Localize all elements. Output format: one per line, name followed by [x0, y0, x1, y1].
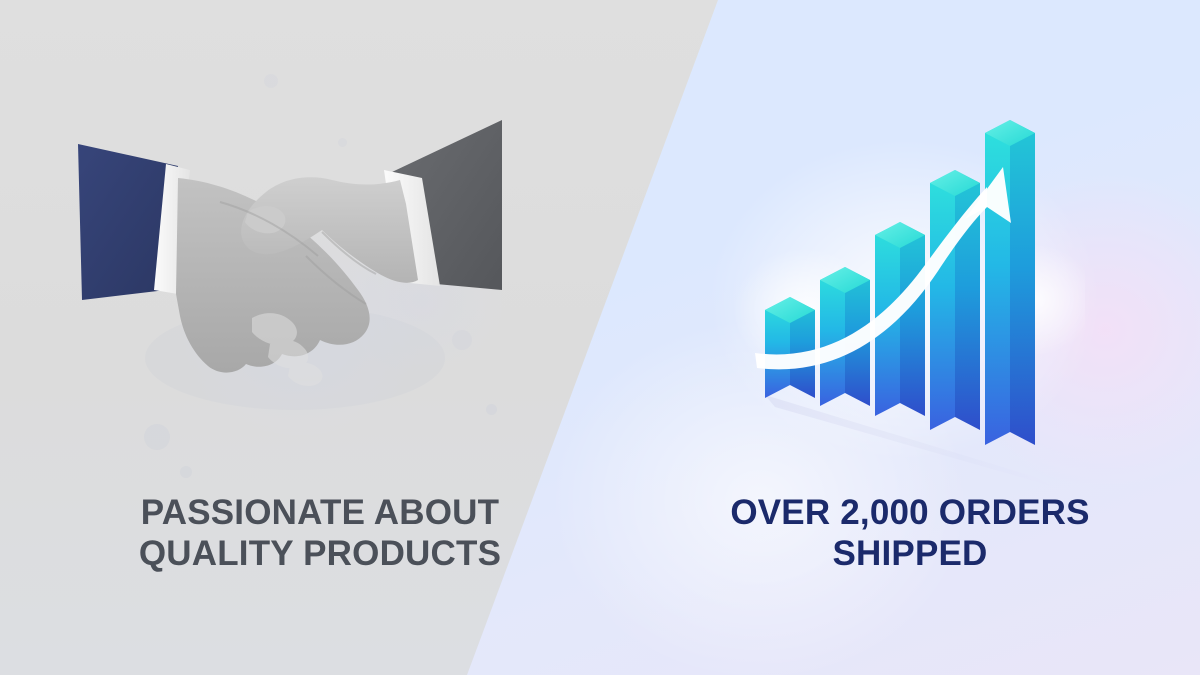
caption-right-line-1: OVER 2,000 ORDERS: [660, 492, 1160, 533]
caption-orders-shipped: OVER 2,000 ORDERS SHIPPED: [660, 492, 1160, 575]
caption-left-line-1: PASSIONATE ABOUT: [60, 492, 580, 533]
chart-bar-1: [765, 297, 815, 398]
handshake-illustration: [70, 108, 510, 428]
caption-left-line-2: QUALITY PRODUCTS: [60, 533, 580, 574]
growth-chart-illustration: [735, 95, 1085, 495]
promo-banner: OVER 2,000 ORDERS SHIPPED: [0, 0, 1200, 675]
caption-right-line-2: SHIPPED: [660, 533, 1160, 574]
decor-blob: [264, 74, 278, 88]
caption-quality-products: PASSIONATE ABOUT QUALITY PRODUCTS: [60, 492, 580, 575]
chart-bar-5: [985, 120, 1035, 445]
decor-blob: [180, 466, 192, 478]
